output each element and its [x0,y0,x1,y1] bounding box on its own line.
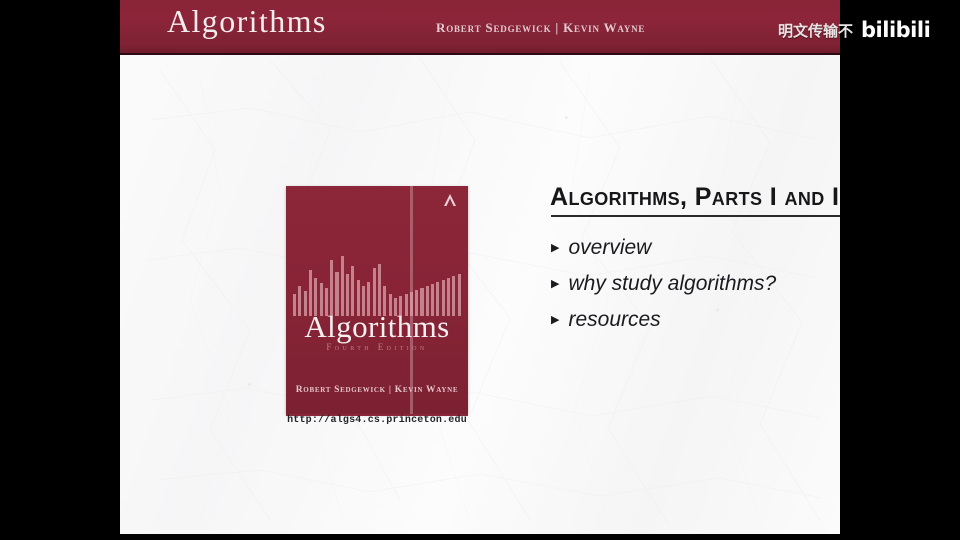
bullet-item: ▶why study algorithms? [551,272,776,296]
presentation-slide: Algorithms Robert Sedgewick | Kevin Wayn… [120,0,840,534]
bullet-label: overview [568,236,651,260]
cover-bar [341,256,344,316]
cover-subtitle: Fourth Edition [286,342,468,352]
video-player-frame: Algorithms Robert Sedgewick | Kevin Wayn… [0,0,960,540]
book-url-link[interactable]: http://algs4.cs.princeton.edu [286,415,468,426]
bilibili-watermark: 明文传输不 bilibili [778,20,930,41]
bullet-item: ▶overview [551,236,776,260]
header-authors: Robert Sedgewick | Kevin Wayne [436,20,645,36]
bilibili-logo-icon: bilibili [861,20,930,41]
bullet-triangle-icon: ▶ [551,279,559,290]
slide-title: Algorithms, Parts I and II [550,183,840,212]
addison-wesley-logo-icon [441,192,459,208]
cover-authors: Robert Sedgewick | Kevin Wayne [286,385,468,395]
cover-bar-chart [292,248,462,316]
bullet-triangle-icon: ▶ [551,315,559,326]
header-title: Algorithms [167,3,327,40]
slide-bullet-list: ▶overview▶why study algorithms?▶resource… [551,236,776,344]
header-rule [120,53,840,55]
book-cover-image: Algorithms Fourth Edition Robert Sedgewi… [286,186,468,414]
cover-bar [330,260,333,316]
slide-header-band: Algorithms Robert Sedgewick | Kevin Wayn… [120,0,840,55]
bullet-label: why study algorithms? [568,272,776,296]
bullet-item: ▶resources [551,308,776,332]
bullet-label: resources [568,308,660,332]
bullet-triangle-icon: ▶ [551,243,559,254]
cover-title: Algorithms [286,309,468,345]
slide-title-rule [551,215,840,217]
watermark-text: 明文传输不 [778,20,853,41]
